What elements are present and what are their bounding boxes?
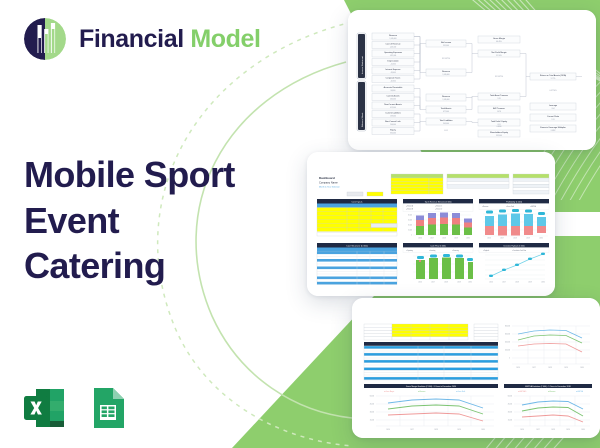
svg-text:412,000: 412,000: [390, 107, 396, 109]
svg-text:2026: 2026: [520, 429, 524, 431]
svg-text:Investors Payback (€ 000): Investors Payback (€ 000): [504, 244, 525, 247]
svg-text:2026: 2026: [386, 429, 390, 431]
svg-text:15,000: 15,000: [408, 230, 412, 232]
svg-text:2027: 2027: [502, 282, 506, 284]
svg-text:-312,000: -312,000: [390, 55, 396, 57]
slide-canvas: Financial Model Mobile Sport Event Cater…: [0, 0, 600, 448]
brand-name: Financial Model: [79, 27, 261, 52]
svg-text:15,000: 15,000: [370, 420, 374, 422]
preview-card-dupont-tree[interactable]: Income Statement Balance Sheet: [348, 10, 596, 150]
svg-text:2028: 2028: [444, 282, 448, 284]
svg-text:45,000: 45,000: [508, 404, 512, 406]
svg-text:0.51: 0.51: [497, 124, 500, 126]
svg-text:Depreciation: Depreciation: [387, 60, 398, 63]
svg-text:0.5096: 0.5096: [497, 126, 502, 128]
svg-text:2026: 2026: [418, 238, 422, 240]
svg-text:2026: 2026: [489, 282, 493, 284]
svg-text:14.76: 14.76: [497, 111, 501, 113]
dashboard-screenshot: Dashboard Company Name Month & Year Sele…: [307, 152, 555, 296]
dupont-tree-screenshot: Income Statement Balance Sheet: [348, 10, 596, 150]
svg-text:▬ Revenue: ▬ Revenue: [548, 391, 556, 393]
svg-text:2.0392: 2.0392: [551, 130, 556, 132]
svg-text:1,240,000: 1,240,000: [389, 38, 396, 40]
svg-text:2027: 2027: [431, 282, 435, 284]
page-title-line2: Event: [24, 198, 235, 244]
svg-text:Accounts Receivable: Accounts Receivable: [384, 86, 404, 89]
svg-text:0.5774%: 0.5774%: [549, 90, 556, 92]
svg-text:Non-Current Liab.: Non-Current Liab.: [385, 120, 401, 123]
svg-text:Non-Current Assets: Non-Current Assets: [384, 103, 401, 106]
svg-text:Total Assets: Total Assets: [441, 107, 452, 110]
svg-text:Operating Expenses: Operating Expenses: [384, 51, 402, 54]
svg-text:Net Profit Margin: Net Profit Margin: [491, 51, 506, 54]
svg-text:2027: 2027: [500, 238, 504, 240]
svg-text:1.83: 1.83: [497, 98, 500, 100]
svg-text:Cost Inputs: Cost Inputs: [351, 200, 363, 203]
svg-text:2030: 2030: [481, 429, 485, 431]
svg-text:Interest Expense: Interest Expense: [385, 68, 401, 71]
svg-text:31.5371%: 31.5371%: [495, 76, 503, 78]
svg-text:66.45%: 66.45%: [496, 41, 502, 43]
svg-text:600,000: 600,000: [505, 334, 510, 336]
brand-name-part2: Model: [190, 25, 260, 53]
brand-name-part1: Financial: [79, 25, 184, 53]
svg-text:Shareholders Equity: Shareholders Equity: [490, 131, 508, 134]
svg-text:200,000: 200,000: [505, 350, 510, 352]
svg-text:60,000: 60,000: [508, 396, 512, 398]
svg-text:2030: 2030: [580, 367, 584, 369]
svg-text:Cash Flow (€ 000): Cash Flow (€ 000): [430, 245, 446, 247]
svg-text:2027: 2027: [410, 429, 414, 431]
svg-text:Balance Sheet: Balance Sheet: [361, 112, 364, 127]
svg-text:206,000: 206,000: [390, 124, 396, 126]
svg-text:Current Ratio: Current Ratio: [547, 115, 560, 118]
svg-text:2026: 2026: [418, 282, 422, 284]
svg-text:31.5371%: 31.5371%: [442, 58, 450, 60]
svg-text:45,000: 45,000: [408, 220, 412, 222]
page-title: Mobile Sport Event Catering: [24, 152, 235, 289]
svg-text:30,000: 30,000: [370, 412, 374, 414]
svg-text:Total Debt / Equity: Total Debt / Equity: [491, 120, 507, 123]
svg-text:Revenue: Revenue: [442, 96, 451, 98]
svg-text:0.51: 0.51: [444, 130, 448, 132]
page-title-line1: Mobile Sport: [24, 152, 235, 198]
svg-text:Cost Structure (€ 000): Cost Structure (€ 000): [346, 244, 368, 247]
svg-text:▬ Revenue: ▬ Revenue: [418, 391, 426, 393]
preview-card-financials[interactable]: 202620272028 20292030 800,000600,000 400…: [352, 298, 600, 438]
svg-text:2.04: 2.04: [551, 108, 554, 110]
svg-text:332,000: 332,000: [390, 132, 396, 134]
svg-text:2028: 2028: [515, 282, 519, 284]
svg-text:Leverage: Leverage: [549, 105, 558, 107]
svg-text:60,000: 60,000: [408, 215, 412, 217]
svg-text:Revenue: Revenue: [442, 71, 451, 73]
svg-text:1,240,000: 1,240,000: [442, 99, 449, 101]
svg-text:2030: 2030: [541, 282, 545, 284]
svg-text:2027: 2027: [532, 367, 536, 369]
svg-text:Top 5 Revenue Streams (€ 000): Top 5 Revenue Streams (€ 000): [425, 200, 452, 203]
svg-text:2029: 2029: [457, 429, 461, 431]
svg-text:● Revenue: ● Revenue: [482, 206, 489, 208]
svg-text:Current Assets: Current Assets: [386, 95, 399, 98]
svg-text:332,000: 332,000: [496, 135, 502, 137]
svg-text:2028: 2028: [434, 429, 438, 431]
svg-text:2027: 2027: [430, 238, 434, 240]
svg-text:Dashboard: Dashboard: [319, 176, 335, 180]
svg-text:2030: 2030: [539, 238, 543, 240]
svg-text:Cost of Revenue: Cost of Revenue: [386, 43, 402, 46]
financials-screenshot: 202620272028 20292030 800,000600,000 400…: [352, 298, 600, 438]
svg-text:677,000: 677,000: [443, 111, 449, 113]
svg-text:2028: 2028: [442, 238, 446, 240]
svg-text:Financial Leverage Multiplier: Financial Leverage Multiplier: [540, 126, 566, 129]
svg-text:-41,000: -41,000: [390, 63, 396, 65]
svg-text:84,000: 84,000: [391, 90, 396, 92]
svg-text:2029: 2029: [564, 367, 568, 369]
svg-text:30,000: 30,000: [508, 412, 512, 414]
svg-text:2029: 2029: [528, 282, 532, 284]
svg-text:15,000: 15,000: [508, 420, 512, 422]
svg-text:2028: 2028: [551, 429, 555, 431]
svg-text:▬ Gross Margin: ▬ Gross Margin: [384, 391, 394, 393]
svg-text:2029: 2029: [566, 429, 570, 431]
svg-text:139,000: 139,000: [390, 115, 396, 117]
svg-text:30,000: 30,000: [408, 225, 412, 227]
svg-text:1,240,000: 1,240,000: [442, 74, 449, 76]
svg-text:Month & Year Selection: Month & Year Selection: [319, 186, 340, 189]
svg-text:Company Name: Company Name: [319, 181, 338, 185]
svg-text:Current Liabilities: Current Liabilities: [385, 112, 400, 115]
svg-text:EBITDA Evolution (€ 000) - 5 Y: EBITDA Evolution (€ 000) - 5 Years to De…: [525, 385, 571, 388]
page-title-line3: Catering: [24, 243, 235, 289]
svg-text:2029: 2029: [526, 238, 530, 240]
brand-logo: Financial Model: [22, 16, 261, 62]
svg-text:391,000: 391,000: [443, 45, 449, 47]
svg-text:2027: 2027: [536, 429, 540, 431]
svg-text:● Financing: ● Financing: [452, 250, 459, 252]
svg-text:400,000: 400,000: [505, 342, 510, 344]
svg-text:A/R Turnover: A/R Turnover: [493, 107, 505, 110]
svg-text:-416,000: -416,000: [390, 46, 396, 48]
preview-card-dashboard[interactable]: Dashboard Company Name Month & Year Sele…: [307, 152, 555, 296]
svg-text:2026: 2026: [487, 238, 491, 240]
svg-text:Income Statement: Income Statement: [361, 56, 364, 74]
svg-text:Total Liabilities: Total Liabilities: [439, 119, 452, 122]
svg-text:Gross Margin Evolution (€ 000): Gross Margin Evolution (€ 000) - 5 Years…: [406, 385, 456, 388]
svg-text:2030: 2030: [466, 238, 470, 240]
file-format-icons: [20, 384, 131, 432]
svg-text:265,000: 265,000: [390, 98, 396, 100]
google-sheets-icon[interactable]: [83, 384, 131, 432]
svg-text:2029: 2029: [457, 282, 461, 284]
svg-text:-18,000: -18,000: [390, 72, 396, 74]
svg-text:2030: 2030: [581, 429, 585, 431]
svg-text:60,000: 60,000: [370, 396, 374, 398]
svg-text:2028: 2028: [548, 367, 552, 369]
svg-text:800,000: 800,000: [505, 326, 510, 328]
svg-text:2028: 2028: [513, 238, 517, 240]
svg-text:345,000: 345,000: [443, 123, 449, 125]
svg-text:2029: 2029: [454, 238, 458, 240]
svg-text:Total Asset Turnover: Total Asset Turnover: [490, 94, 508, 97]
svg-text:Corporate Taxes: Corporate Taxes: [386, 77, 401, 80]
svg-text:Gross Margin: Gross Margin: [493, 38, 505, 40]
svg-text:-62,000: -62,000: [390, 80, 396, 82]
svg-text:● Payback: ● Payback: [483, 250, 489, 252]
svg-text:31.53%: 31.53%: [496, 55, 502, 57]
svg-text:1.91: 1.91: [551, 119, 554, 121]
svg-text:Net Income: Net Income: [441, 41, 452, 44]
excel-icon[interactable]: [20, 384, 68, 432]
svg-text:Equity: Equity: [390, 129, 396, 132]
svg-text:45,000: 45,000: [370, 404, 374, 406]
svg-text:2030: 2030: [468, 282, 472, 284]
svg-text:2026: 2026: [516, 367, 520, 369]
svg-text:Revenue: Revenue: [389, 35, 398, 37]
logo-icon: [22, 16, 68, 62]
svg-text:Profitability (€ 000): Profitability (€ 000): [506, 200, 522, 203]
